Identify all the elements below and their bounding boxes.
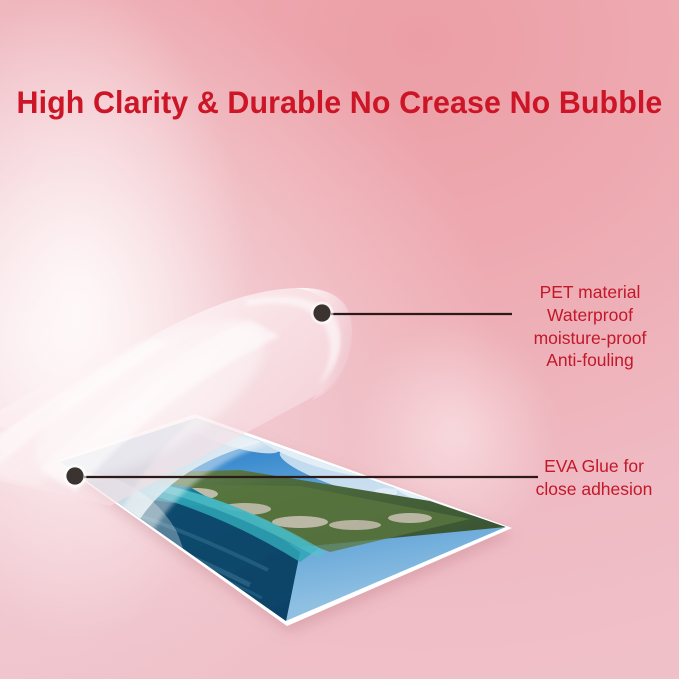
callout-pet-line-1: PET material xyxy=(510,281,670,304)
infographic-canvas: High Clarity & Durable No Crease No Bubb… xyxy=(0,0,679,679)
callout-dot-eva xyxy=(66,467,83,484)
callout-dot-pet xyxy=(313,304,330,321)
callout-pet-line-4: Anti-fouling xyxy=(510,349,670,372)
callout-label-eva: EVA Glue for close adhesion xyxy=(516,455,672,501)
callout-pet-line-3: moisture-proof xyxy=(510,327,670,350)
callout-label-pet: PET material Waterproof moisture-proof A… xyxy=(510,281,670,372)
callout-pet-line-2: Waterproof xyxy=(510,304,670,327)
callout-eva-line-2: close adhesion xyxy=(516,478,672,501)
callout-eva-line-1: EVA Glue for xyxy=(516,455,672,478)
